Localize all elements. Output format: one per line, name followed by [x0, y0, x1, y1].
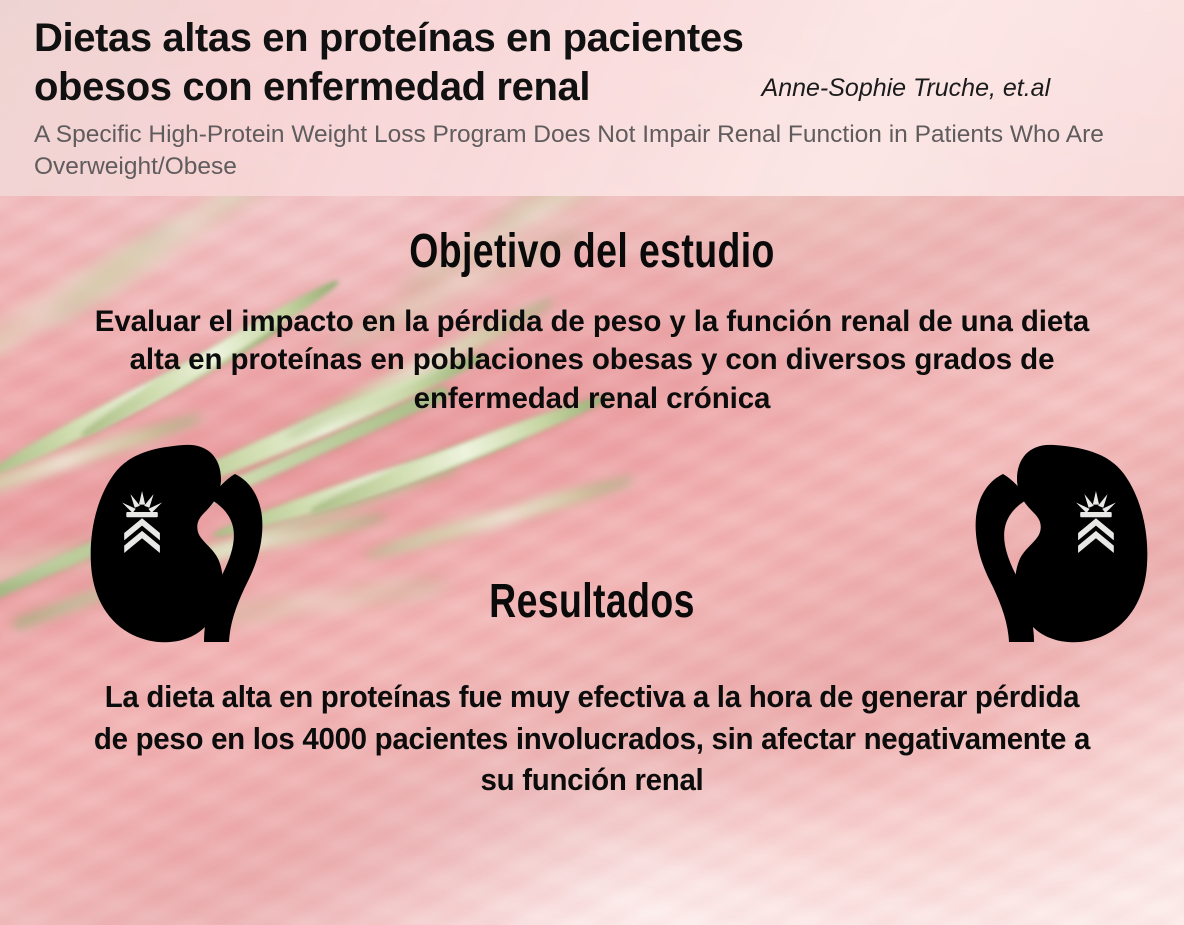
page-title-line-1: Dietas altas en proteínas en pacientes — [34, 16, 744, 60]
header-band: Dietas altas en proteínas en pacientesob… — [0, 0, 1184, 196]
page-title: Dietas altas en proteínas en pacientesob… — [34, 14, 744, 112]
section-heading-objective: Objetivo del estudio — [130, 228, 1054, 276]
authors-byline: Anne-Sophie Truche, et.al — [762, 74, 1051, 112]
section-body-results: La dieta alta en proteínas fue muy efect… — [89, 676, 1096, 801]
page-title-line-2: obesos con enfermedad renal — [34, 65, 590, 109]
infographic-poster: Dietas altas en proteínas en pacientesob… — [0, 0, 1184, 925]
section-heading-results: Resultados — [130, 578, 1054, 626]
title-block: Dietas altas en proteínas en pacientesob… — [34, 14, 1160, 112]
section-body-objective: Evaluar el impacto en la pérdida de peso… — [92, 303, 1092, 418]
paper-subtitle: A Specific High-Protein Weight Loss Prog… — [34, 119, 1160, 184]
